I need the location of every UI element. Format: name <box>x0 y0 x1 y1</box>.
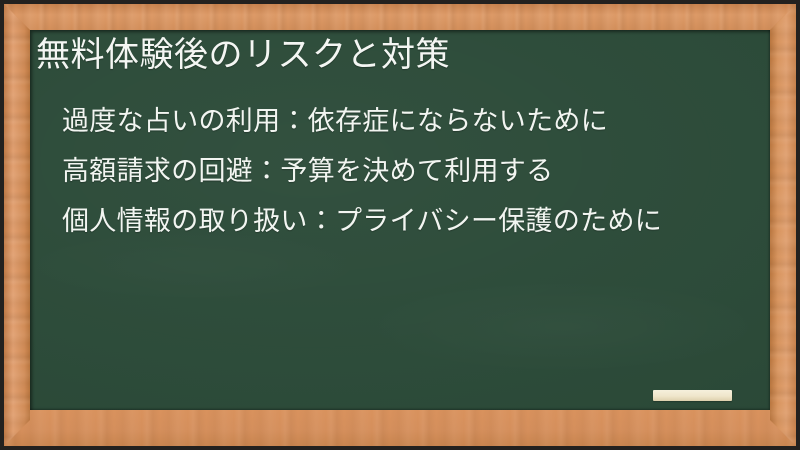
list-item: 過度な占いの利用：依存症にならないために <box>62 108 760 135</box>
page-title: 無料体験後のリスクと対策 <box>36 34 450 77</box>
slide-stage: 無料体験後のリスクと対策 過度な占いの利用：依存症にならないために 高額請求の回… <box>0 0 800 450</box>
bullet-list: 過度な占いの利用：依存症にならないために 高額請求の回避：予算を決めて利用する … <box>62 108 760 235</box>
list-item: 個人情報の取り扱い：プライバシー保護のために <box>62 208 760 235</box>
frame-rail-top <box>4 4 796 30</box>
chalkboard-content: 無料体験後のリスクと対策 過度な占いの利用：依存症にならないために 高額請求の回… <box>30 30 770 410</box>
chalk-stick-icon <box>653 390 732 401</box>
frame-rail-bottom-ledge <box>4 410 796 446</box>
chalkboard-wooden-frame: 無料体験後のリスクと対策 過度な占いの利用：依存症にならないために 高額請求の回… <box>4 4 796 446</box>
list-item: 高額請求の回避：予算を決めて利用する <box>62 158 760 185</box>
chalkboard-surface: 無料体験後のリスクと対策 過度な占いの利用：依存症にならないために 高額請求の回… <box>30 30 770 410</box>
frame-stile-left <box>4 4 30 446</box>
frame-stile-right <box>770 4 796 446</box>
